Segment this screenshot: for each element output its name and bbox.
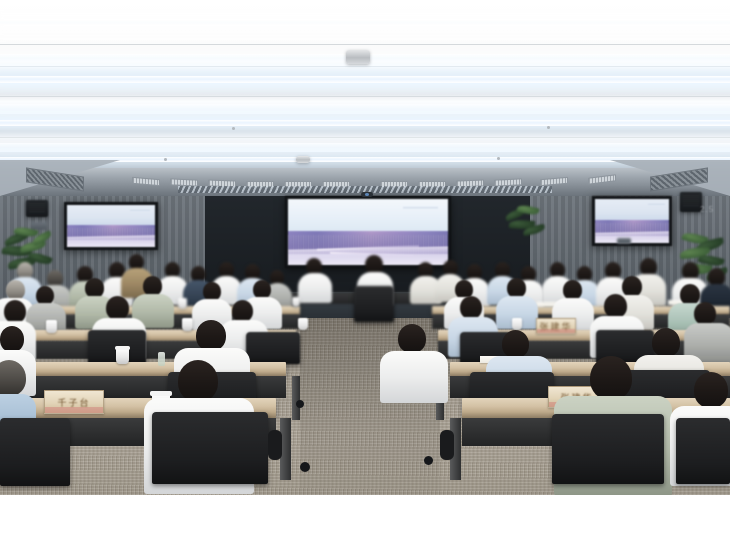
paper-cup xyxy=(46,320,57,333)
chair-castor xyxy=(296,400,304,408)
ceiling-sprinkler-icon xyxy=(232,127,235,130)
screen-watermark xyxy=(403,205,438,210)
ceiling-seam xyxy=(0,137,730,138)
placard-accent-band xyxy=(45,407,103,413)
bottom-letterbox xyxy=(0,495,730,548)
paper-cup xyxy=(298,318,308,330)
paper-cup xyxy=(182,318,193,331)
desk-leg xyxy=(292,376,300,420)
name-placard-left: 千子台 xyxy=(44,390,104,414)
screen-watermark xyxy=(648,203,664,207)
ceiling-light-strip xyxy=(0,20,730,25)
smoke-detector-icon xyxy=(296,156,310,163)
conference-room-photograph: 2.5 xyxy=(0,0,730,495)
chair-armrest xyxy=(268,430,282,460)
chair xyxy=(354,286,394,322)
placard-accent-band xyxy=(537,329,575,333)
ceiling-seam xyxy=(0,44,730,45)
ceiling-sprinkler-icon xyxy=(497,157,500,160)
ceiling-seam xyxy=(0,66,730,67)
screen-foreground xyxy=(67,240,155,247)
wall-signage: 2.5 xyxy=(700,205,714,214)
main-led-wall-content xyxy=(288,199,448,265)
ceiling-light-strip xyxy=(0,120,730,126)
left-side-screen[interactable] xyxy=(64,202,158,250)
chair-foreground xyxy=(552,414,664,484)
ceiling-speaker-icon xyxy=(346,50,370,64)
chair-foreground xyxy=(0,418,70,486)
chair-castor xyxy=(424,456,433,465)
paper-cup xyxy=(292,297,300,307)
ceiling-seam xyxy=(0,96,730,97)
paper-cup xyxy=(116,348,129,364)
paper-cup xyxy=(178,298,187,309)
screen-foreground xyxy=(595,236,669,243)
chair-foreground xyxy=(676,418,730,484)
water-bottle xyxy=(158,352,165,366)
left-side-screen-content xyxy=(67,205,155,247)
wall-mounted-box xyxy=(617,238,631,244)
screenshot-canvas: 2.5 xyxy=(0,0,730,548)
video-conference-camera-icon xyxy=(361,192,373,197)
ceiling-sprinkler-icon xyxy=(164,158,167,161)
right-side-screen[interactable] xyxy=(592,196,672,246)
left-wall-speaker xyxy=(26,200,48,217)
chair-foreground xyxy=(152,412,268,484)
chair xyxy=(246,332,300,364)
suspended-ceiling xyxy=(0,0,730,182)
chair-armrest xyxy=(440,430,454,460)
chair-castor xyxy=(300,462,310,472)
ceiling-light-strip xyxy=(0,76,730,83)
paper-cup xyxy=(512,318,522,330)
name-placard-mid-right: 张建华 xyxy=(536,318,576,334)
right-side-screen-content xyxy=(595,199,669,243)
right-wall-speaker xyxy=(680,192,702,212)
ceiling-sprinkler-icon xyxy=(547,126,550,129)
ceiling-light-strip xyxy=(0,143,730,152)
ceiling-light-strip xyxy=(0,104,730,114)
screen-watermark xyxy=(130,209,149,212)
stage-planter xyxy=(505,206,549,248)
